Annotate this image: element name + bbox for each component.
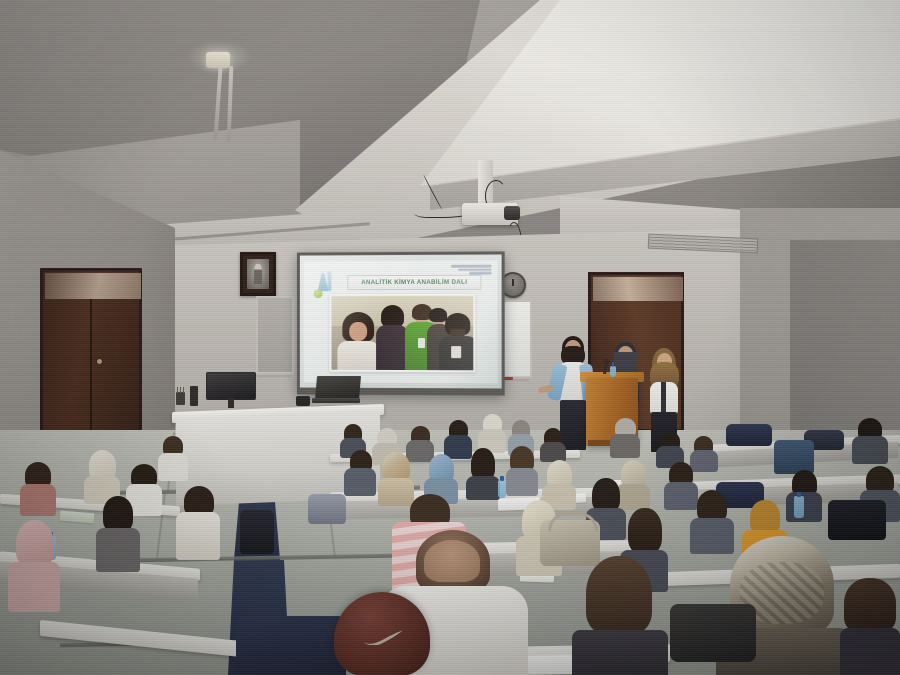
student (506, 446, 538, 494)
student (852, 418, 888, 462)
student (20, 462, 56, 514)
backpack[interactable] (828, 500, 886, 540)
water-bottle[interactable] (498, 480, 506, 498)
pen-cup (176, 392, 185, 405)
student (478, 414, 506, 450)
backpack[interactable] (240, 510, 274, 554)
projection-screen: ANALİTİK KİMYA ANABİLİM DALI (297, 251, 505, 395)
presentation-slide: ANALİTİK KİMYA ANABİLİM DALI (304, 261, 498, 384)
docking-station (296, 396, 310, 406)
door-left[interactable] (40, 268, 142, 443)
student-front-left (236, 600, 346, 675)
student (344, 450, 376, 492)
handbag[interactable] (308, 494, 346, 524)
student (96, 496, 140, 570)
slide-title-text: ANALİTİK KİMYA ANABİLİM DALI (361, 278, 467, 286)
fluorescent-light-icon (206, 52, 230, 68)
laptop-screen[interactable] (315, 376, 361, 400)
monitor-stand (228, 398, 234, 408)
slide-photo (329, 294, 475, 372)
student (540, 428, 566, 460)
student (158, 436, 188, 480)
marker-tray (257, 372, 291, 377)
student (466, 448, 500, 498)
door-transom-window (45, 273, 141, 299)
projector-lens-icon (504, 206, 520, 220)
door-transom-window (593, 277, 683, 301)
student (176, 486, 220, 558)
whiteboard-marker[interactable] (504, 377, 513, 380)
door-split (90, 299, 92, 438)
nike-swoosh-icon (362, 630, 404, 645)
backpack[interactable] (726, 424, 772, 446)
student-headscarf (84, 450, 120, 502)
student-front-right (572, 556, 668, 675)
chair[interactable] (774, 440, 814, 474)
projection-surface: ANALİTİK KİMYA ANABİLİM DALI (300, 254, 502, 388)
laptop-keyboard[interactable] (312, 398, 360, 403)
lecture-hall-photo: ANALİTİK KİMYA ANABİLİM DALI (0, 0, 900, 675)
door-handle-icon[interactable] (97, 359, 102, 364)
student (656, 432, 684, 466)
water-bottle[interactable] (610, 366, 616, 377)
student (786, 470, 822, 520)
student-headscarf (8, 520, 60, 610)
desktop-monitor[interactable] (206, 372, 256, 400)
student (610, 418, 640, 456)
framed-portrait (240, 252, 276, 296)
slide-title-banner: ANALİTİK KİMYA ANABİLİM DALI (347, 275, 481, 290)
desk-speaker (190, 386, 198, 406)
whiteboard-left (256, 296, 294, 374)
student-front-far-right (840, 578, 900, 675)
backpack[interactable] (670, 604, 756, 662)
water-bottle[interactable] (794, 496, 804, 518)
